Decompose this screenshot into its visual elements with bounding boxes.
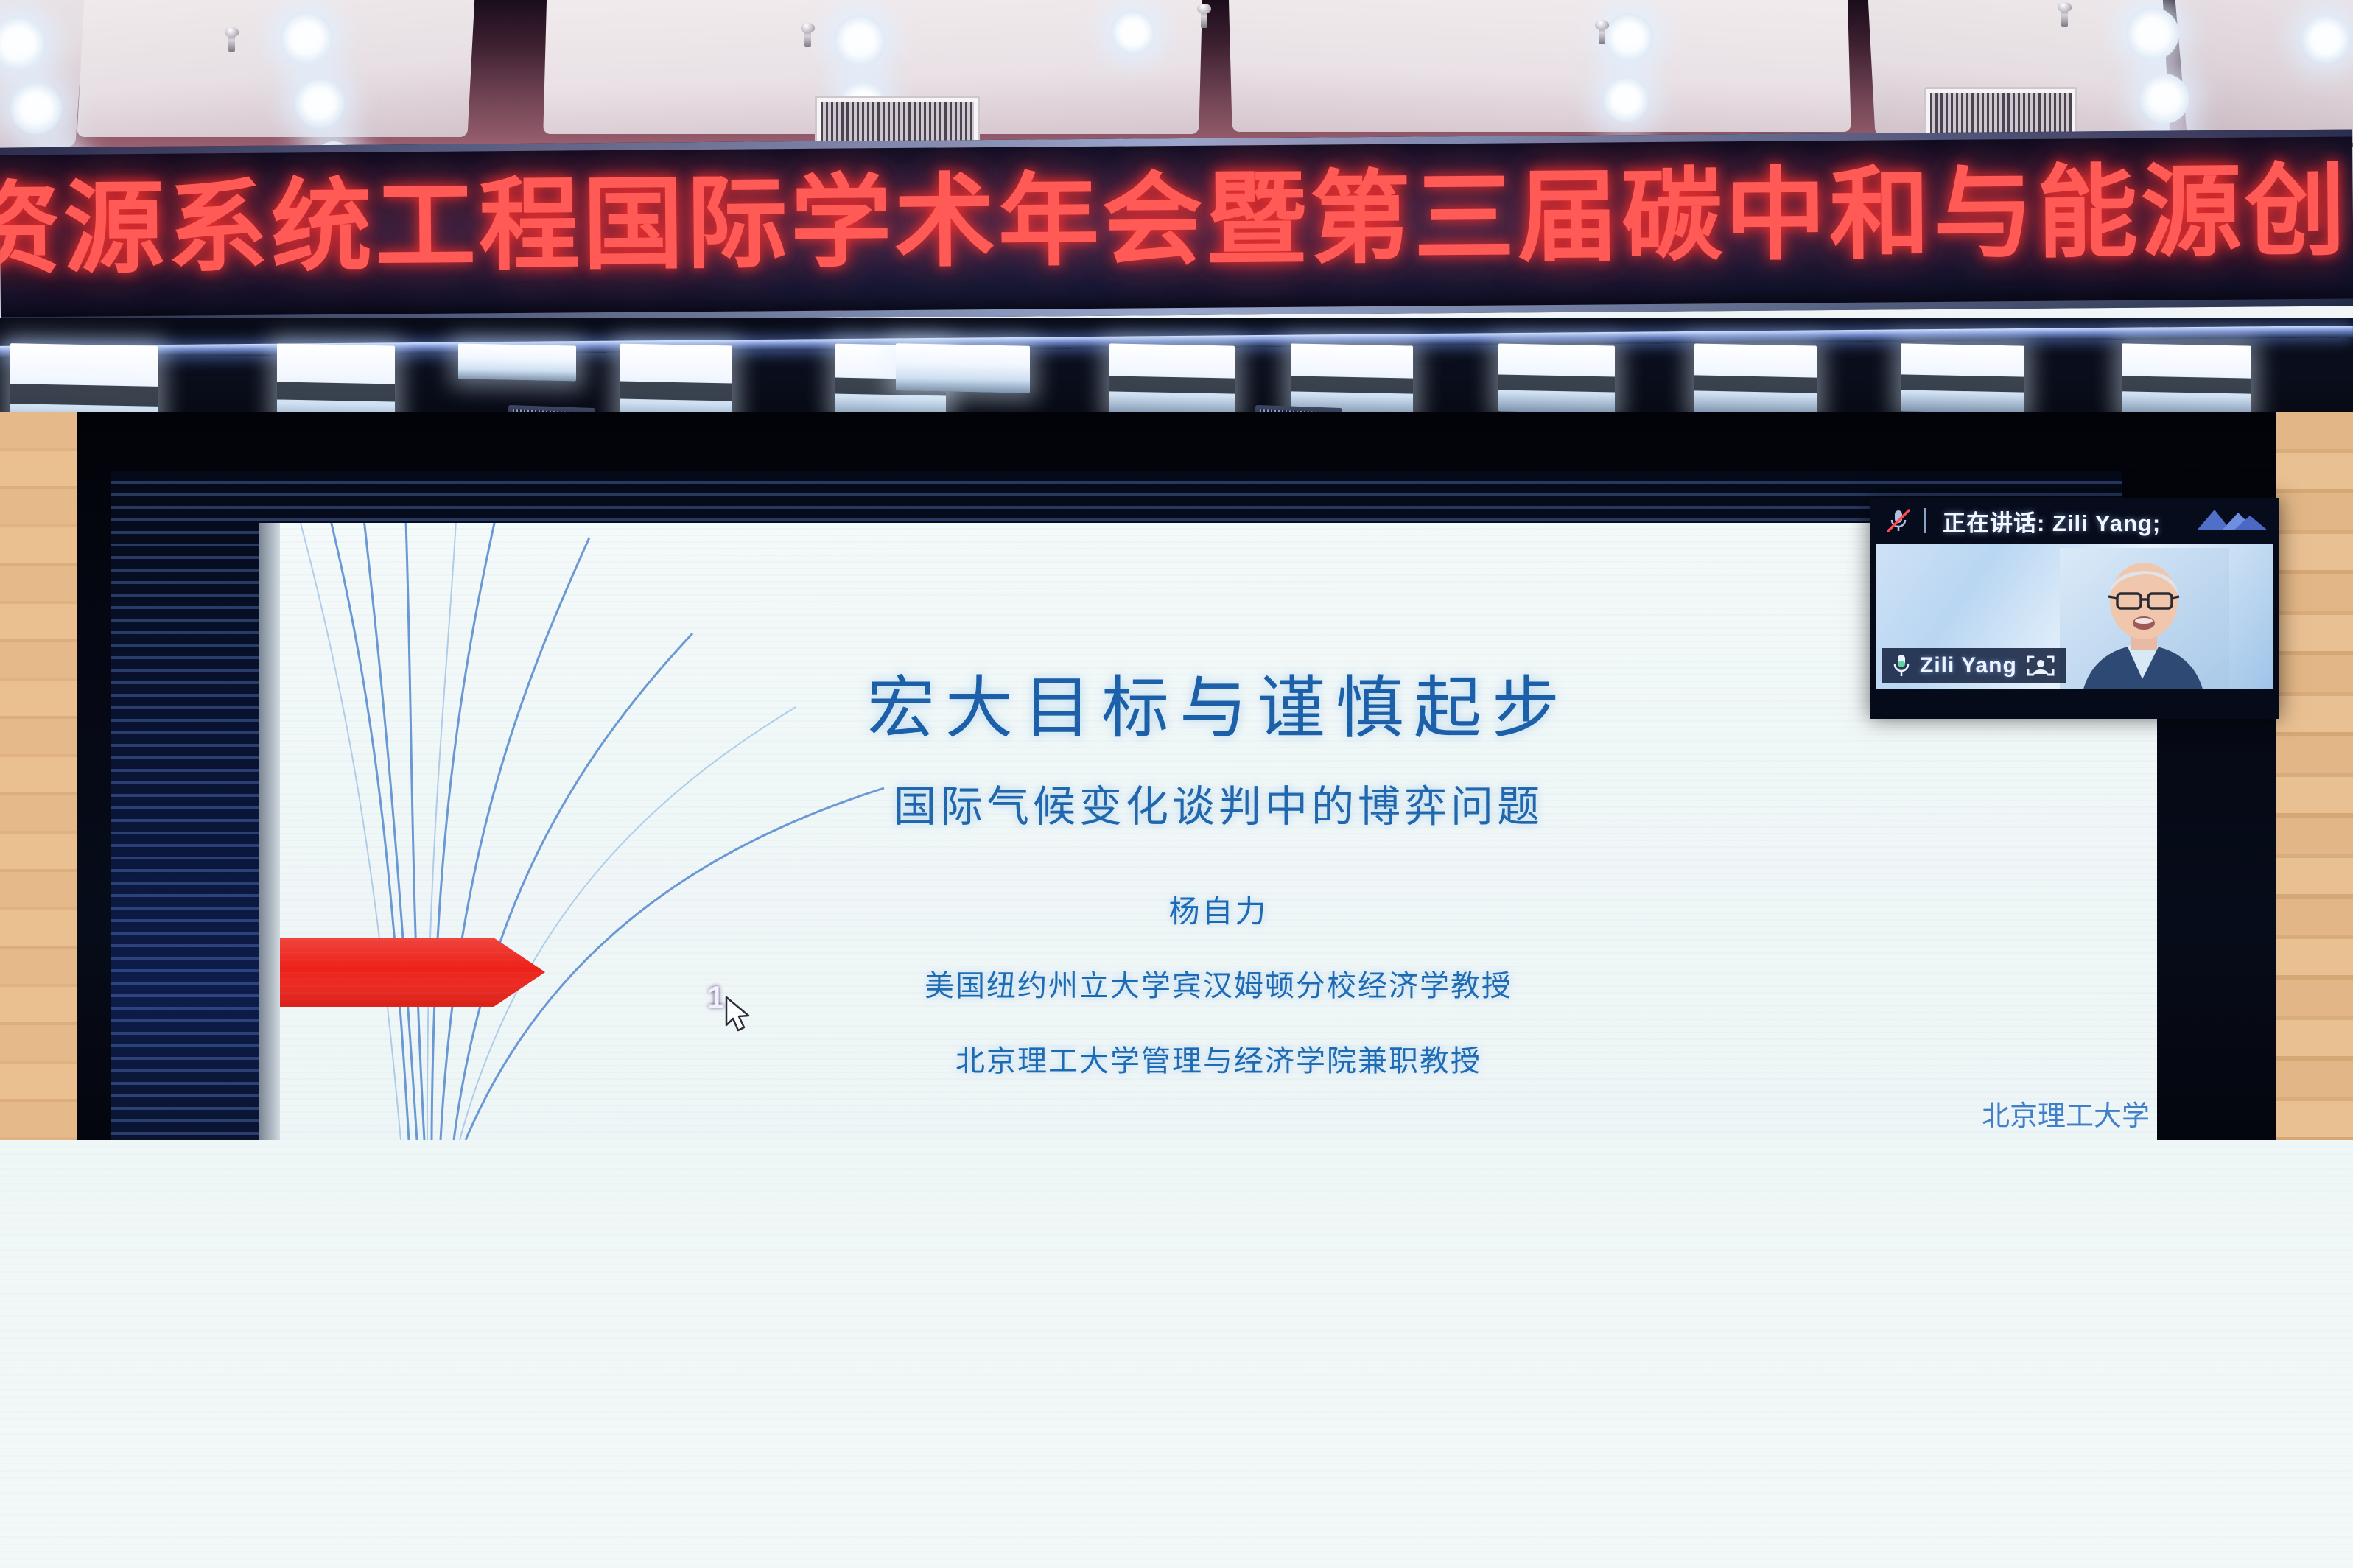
participant-nameplate: Zili Yang: [1882, 648, 2066, 683]
sprinkler-icon: [228, 32, 235, 52]
stage-light-icon: [2122, 343, 2251, 416]
ceiling-panel: [77, 0, 475, 137]
downlight-icon: [1605, 13, 1653, 62]
slide-affiliation-1: 美国纽约州立大学宾汉姆顿分校经济学教授: [280, 968, 2157, 1005]
wood-wall-right: [2270, 412, 2353, 1142]
slide-subtitle: 国际气候变化谈判中的博弈问题: [280, 781, 2157, 832]
downlight-icon: [10, 82, 62, 134]
sprinkler-icon: [1599, 25, 1605, 44]
status-divider: [1924, 508, 1926, 533]
microphone-muted-icon[interactable]: [1886, 508, 1911, 533]
mountain-logo-icon: [2195, 505, 2269, 536]
participant-portrait: [2060, 548, 2229, 689]
slide-author: 杨自力: [280, 893, 2157, 931]
downlight-icon: [280, 12, 333, 65]
stage-light-icon: [896, 343, 1030, 393]
overexposed-foreground: [0, 1140, 2353, 1568]
person-focus-icon[interactable]: [2026, 654, 2055, 678]
ceiling: [0, 0, 2353, 147]
stage-light-icon: [1901, 343, 2024, 413]
slide-watermark: 北京理工大学: [1982, 1093, 2353, 1133]
stage-light-icon: [1291, 343, 1413, 416]
stage-light-icon: [1109, 343, 1235, 416]
screen-frame-edge: [259, 523, 281, 1142]
participant-name: Zili Yang: [1920, 653, 2017, 678]
event-banner-text: 资源系统工程国际学术年会暨第三届碳中和与能源创: [0, 145, 2353, 297]
slide-affiliation-2: 北京理工大学管理与经济学院兼职教授: [280, 1043, 2157, 1080]
downlight-icon: [2139, 74, 2189, 124]
downlight-icon: [2126, 7, 2179, 60]
ceiling-panel: [1228, 0, 1851, 132]
stage-light-icon: [1694, 343, 1817, 415]
downlight-icon: [295, 78, 345, 128]
conference-photo: 资源系统工程国际学术年会暨第三届碳中和与能源创: [0, 0, 2353, 1568]
downlight-icon: [2301, 15, 2350, 63]
vc-speaking-label: 正在讲话: Zili Yang;: [1943, 504, 2161, 538]
stage-light-icon: [458, 343, 576, 381]
microphone-icon[interactable]: [1892, 654, 1911, 678]
sprinkler-icon: [1201, 9, 1207, 28]
air-vent-icon: [1924, 87, 2077, 138]
wood-wall-left: [0, 412, 83, 1142]
downlight-icon: [1111, 10, 1155, 55]
vc-participant-video[interactable]: Zili Yang: [1876, 544, 2273, 689]
sprinkler-icon: [804, 28, 811, 47]
downlight-icon: [834, 15, 886, 66]
stage-light-icon: [1498, 343, 1615, 413]
event-banner: 资源系统工程国际学术年会暨第三届碳中和与能源创: [0, 129, 2353, 324]
video-conference-overlay[interactable]: 正在讲话: Zili Yang;: [1870, 498, 2279, 719]
sprinkler-icon: [2061, 7, 2068, 27]
downlight-icon: [1603, 77, 1649, 122]
